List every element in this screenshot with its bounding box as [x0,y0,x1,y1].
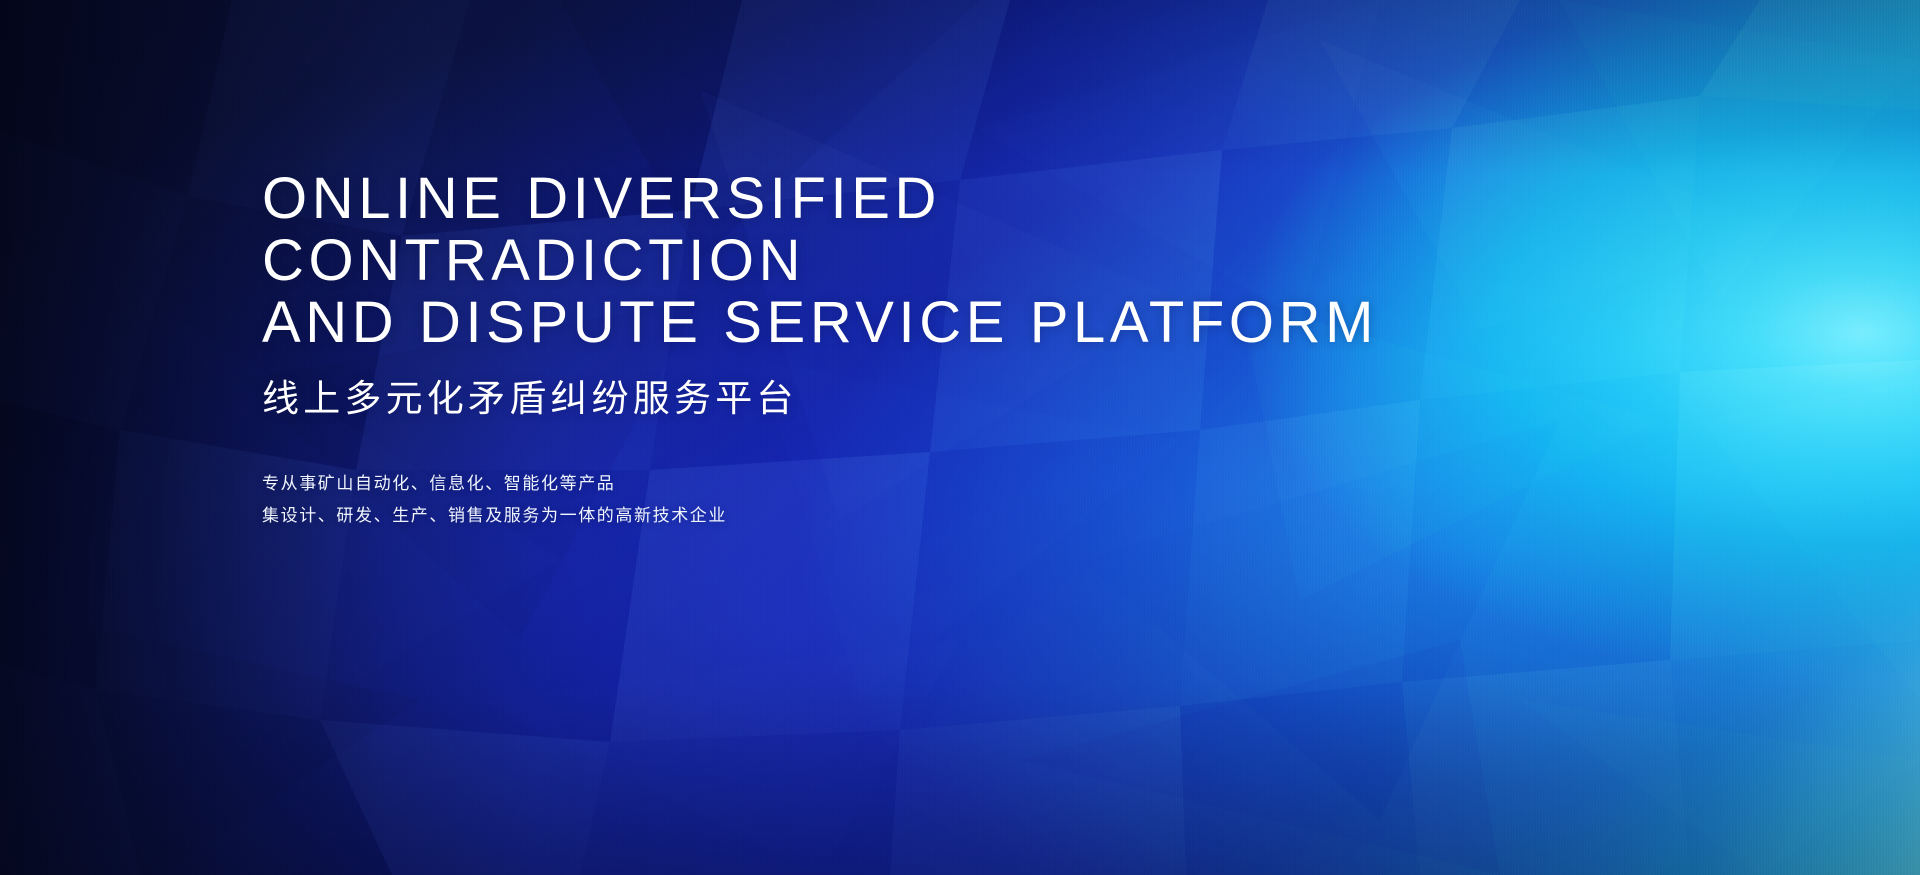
hero-title-chinese: 线上多元化矛盾纠纷服务平台 [262,376,1462,422]
hero-banner: ONLINE DIVERSIFIED CONTRADICTION AND DIS… [0,0,1920,875]
hero-subtitle-line-2: 集设计、研发、生产、销售及服务为一体的高新技术企业 [262,500,1462,532]
hero-text-block: ONLINE DIVERSIFIED CONTRADICTION AND DIS… [262,168,1462,532]
hero-subtitle-block: 专从事矿山自动化、信息化、智能化等产品 集设计、研发、生产、销售及服务为一体的高… [262,468,1462,532]
hero-title-english: ONLINE DIVERSIFIED CONTRADICTION AND DIS… [262,168,1462,354]
hero-subtitle-line-1: 专从事矿山自动化、信息化、智能化等产品 [262,468,1462,500]
